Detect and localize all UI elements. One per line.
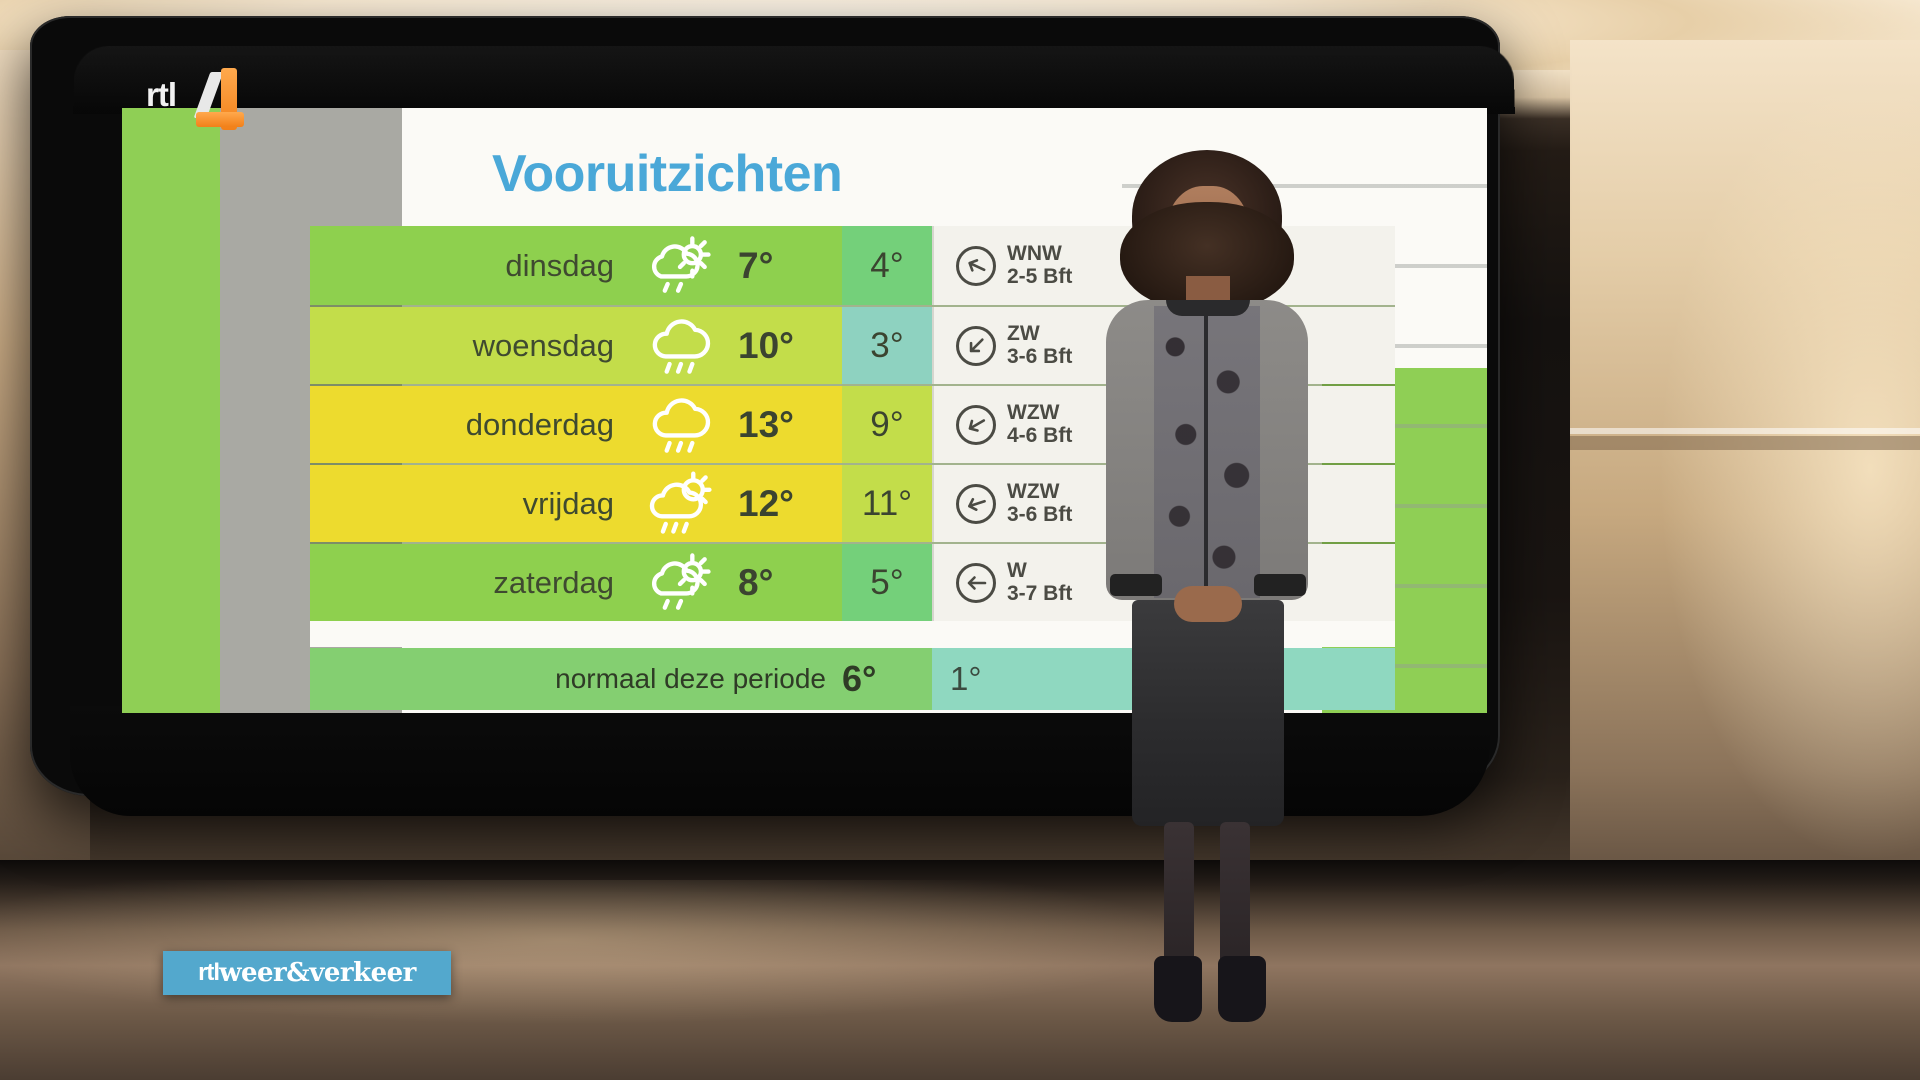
sun-cloud-drizzle-icon: [643, 229, 717, 303]
forecast-max-temp: 10°: [732, 307, 842, 384]
wind-direction-arrow-icon: [956, 484, 996, 524]
wind-force-label: 3-6 Bft: [1007, 346, 1072, 368]
sun-cloud-drizzle-icon: [628, 226, 732, 305]
wind-text: W 3-7 Bft: [1007, 560, 1072, 605]
cloud-rain-icon: [628, 386, 732, 463]
sun-cloud-drizzle-icon: [628, 544, 732, 621]
wind-text: WZW 3-6 Bft: [1007, 481, 1072, 526]
forecast-min-temp: 9°: [842, 386, 932, 463]
wall-seam-shadow: [1570, 436, 1920, 450]
forecast-day-name: dinsdag: [310, 226, 628, 305]
cloud-rain-icon: [643, 388, 717, 462]
wind-force-label: 4-6 Bft: [1007, 425, 1072, 447]
wind-force-label: 3-6 Bft: [1007, 504, 1072, 526]
video-wall-bezel-top: [73, 46, 1515, 114]
forecast-min-temp: 11°: [842, 465, 932, 542]
page-title: Vooruitzichten: [492, 144, 842, 204]
forecast-max-temp: 7°: [732, 226, 842, 305]
weather-presenter: [1070, 150, 1330, 880]
forecast-min-temp: 5°: [842, 544, 932, 621]
normal-period-max: 6°: [842, 648, 932, 710]
rtl-wordmark: rtl: [146, 76, 176, 114]
presenter-leg-right: [1220, 822, 1250, 972]
wind-direction-arrow-icon: [956, 326, 996, 366]
wind-direction-label: WZW: [1007, 481, 1072, 503]
wind-direction-label: W: [1007, 560, 1072, 582]
presenter-cuff-right: [1254, 574, 1306, 596]
cloud-rain-icon: [643, 309, 717, 383]
forecast-day-name: vrijdag: [310, 465, 628, 542]
presenter-jacket-collar: [1166, 300, 1250, 316]
studio-scene: Vooruitzichten dinsdag 7° 4° WNW 2-5 Bft…: [0, 0, 1920, 1080]
wind-direction-label: WNW: [1007, 243, 1072, 265]
wind-text: WNW 2-5 Bft: [1007, 243, 1072, 288]
forecast-max-temp: 8°: [732, 544, 842, 621]
wind-direction-arrow-icon: [956, 563, 996, 603]
forecast-max-temp: 13°: [732, 386, 842, 463]
wind-direction-label: ZW: [1007, 323, 1072, 345]
forecast-min-temp: 4°: [842, 226, 932, 305]
wind-direction-arrow-icon: [956, 246, 996, 286]
sun-cloud-rain-icon: [628, 465, 732, 542]
normal-period-label: normaal deze periode: [310, 648, 842, 710]
forecast-day-name: donderdag: [310, 386, 628, 463]
forecast-max-temp: 12°: [732, 465, 842, 542]
presenter-skirt: [1132, 600, 1284, 826]
sun-cloud-rain-icon: [643, 467, 717, 541]
backdrop-panel-green-left: [122, 108, 220, 713]
presenter-boot-left: [1154, 956, 1202, 1022]
wall-seam-highlight: [1570, 428, 1920, 434]
wind-force-label: 3-7 Bft: [1007, 583, 1072, 605]
wind-force-label: 2-5 Bft: [1007, 266, 1072, 288]
logo-four-horizontal: [196, 112, 244, 127]
studio-wall-right-glow: [1570, 40, 1920, 900]
banner-rtl-label: rtl: [198, 959, 219, 987]
banner-program-label: weer&verkeer: [219, 958, 416, 988]
wind-text: ZW 3-6 Bft: [1007, 323, 1072, 368]
presenter-boot-right: [1218, 956, 1266, 1022]
sun-cloud-drizzle-icon: [643, 546, 717, 620]
wind-direction-label: WZW: [1007, 402, 1072, 424]
presenter-jacket-zipper: [1204, 306, 1208, 598]
wind-direction-arrow-icon: [956, 405, 996, 445]
presenter-hands: [1174, 586, 1242, 622]
cloud-rain-icon: [628, 307, 732, 384]
forecast-day-name: woensdag: [310, 307, 628, 384]
wind-text: WZW 4-6 Bft: [1007, 402, 1072, 447]
rtl4-logo: rtl: [146, 66, 256, 122]
lower-third-banner: rtl weer&verkeer: [163, 951, 451, 995]
forecast-min-temp: 3°: [842, 307, 932, 384]
presenter-leg-left: [1164, 822, 1194, 972]
forecast-day-name: zaterdag: [310, 544, 628, 621]
presenter-cuff-left: [1110, 574, 1162, 596]
